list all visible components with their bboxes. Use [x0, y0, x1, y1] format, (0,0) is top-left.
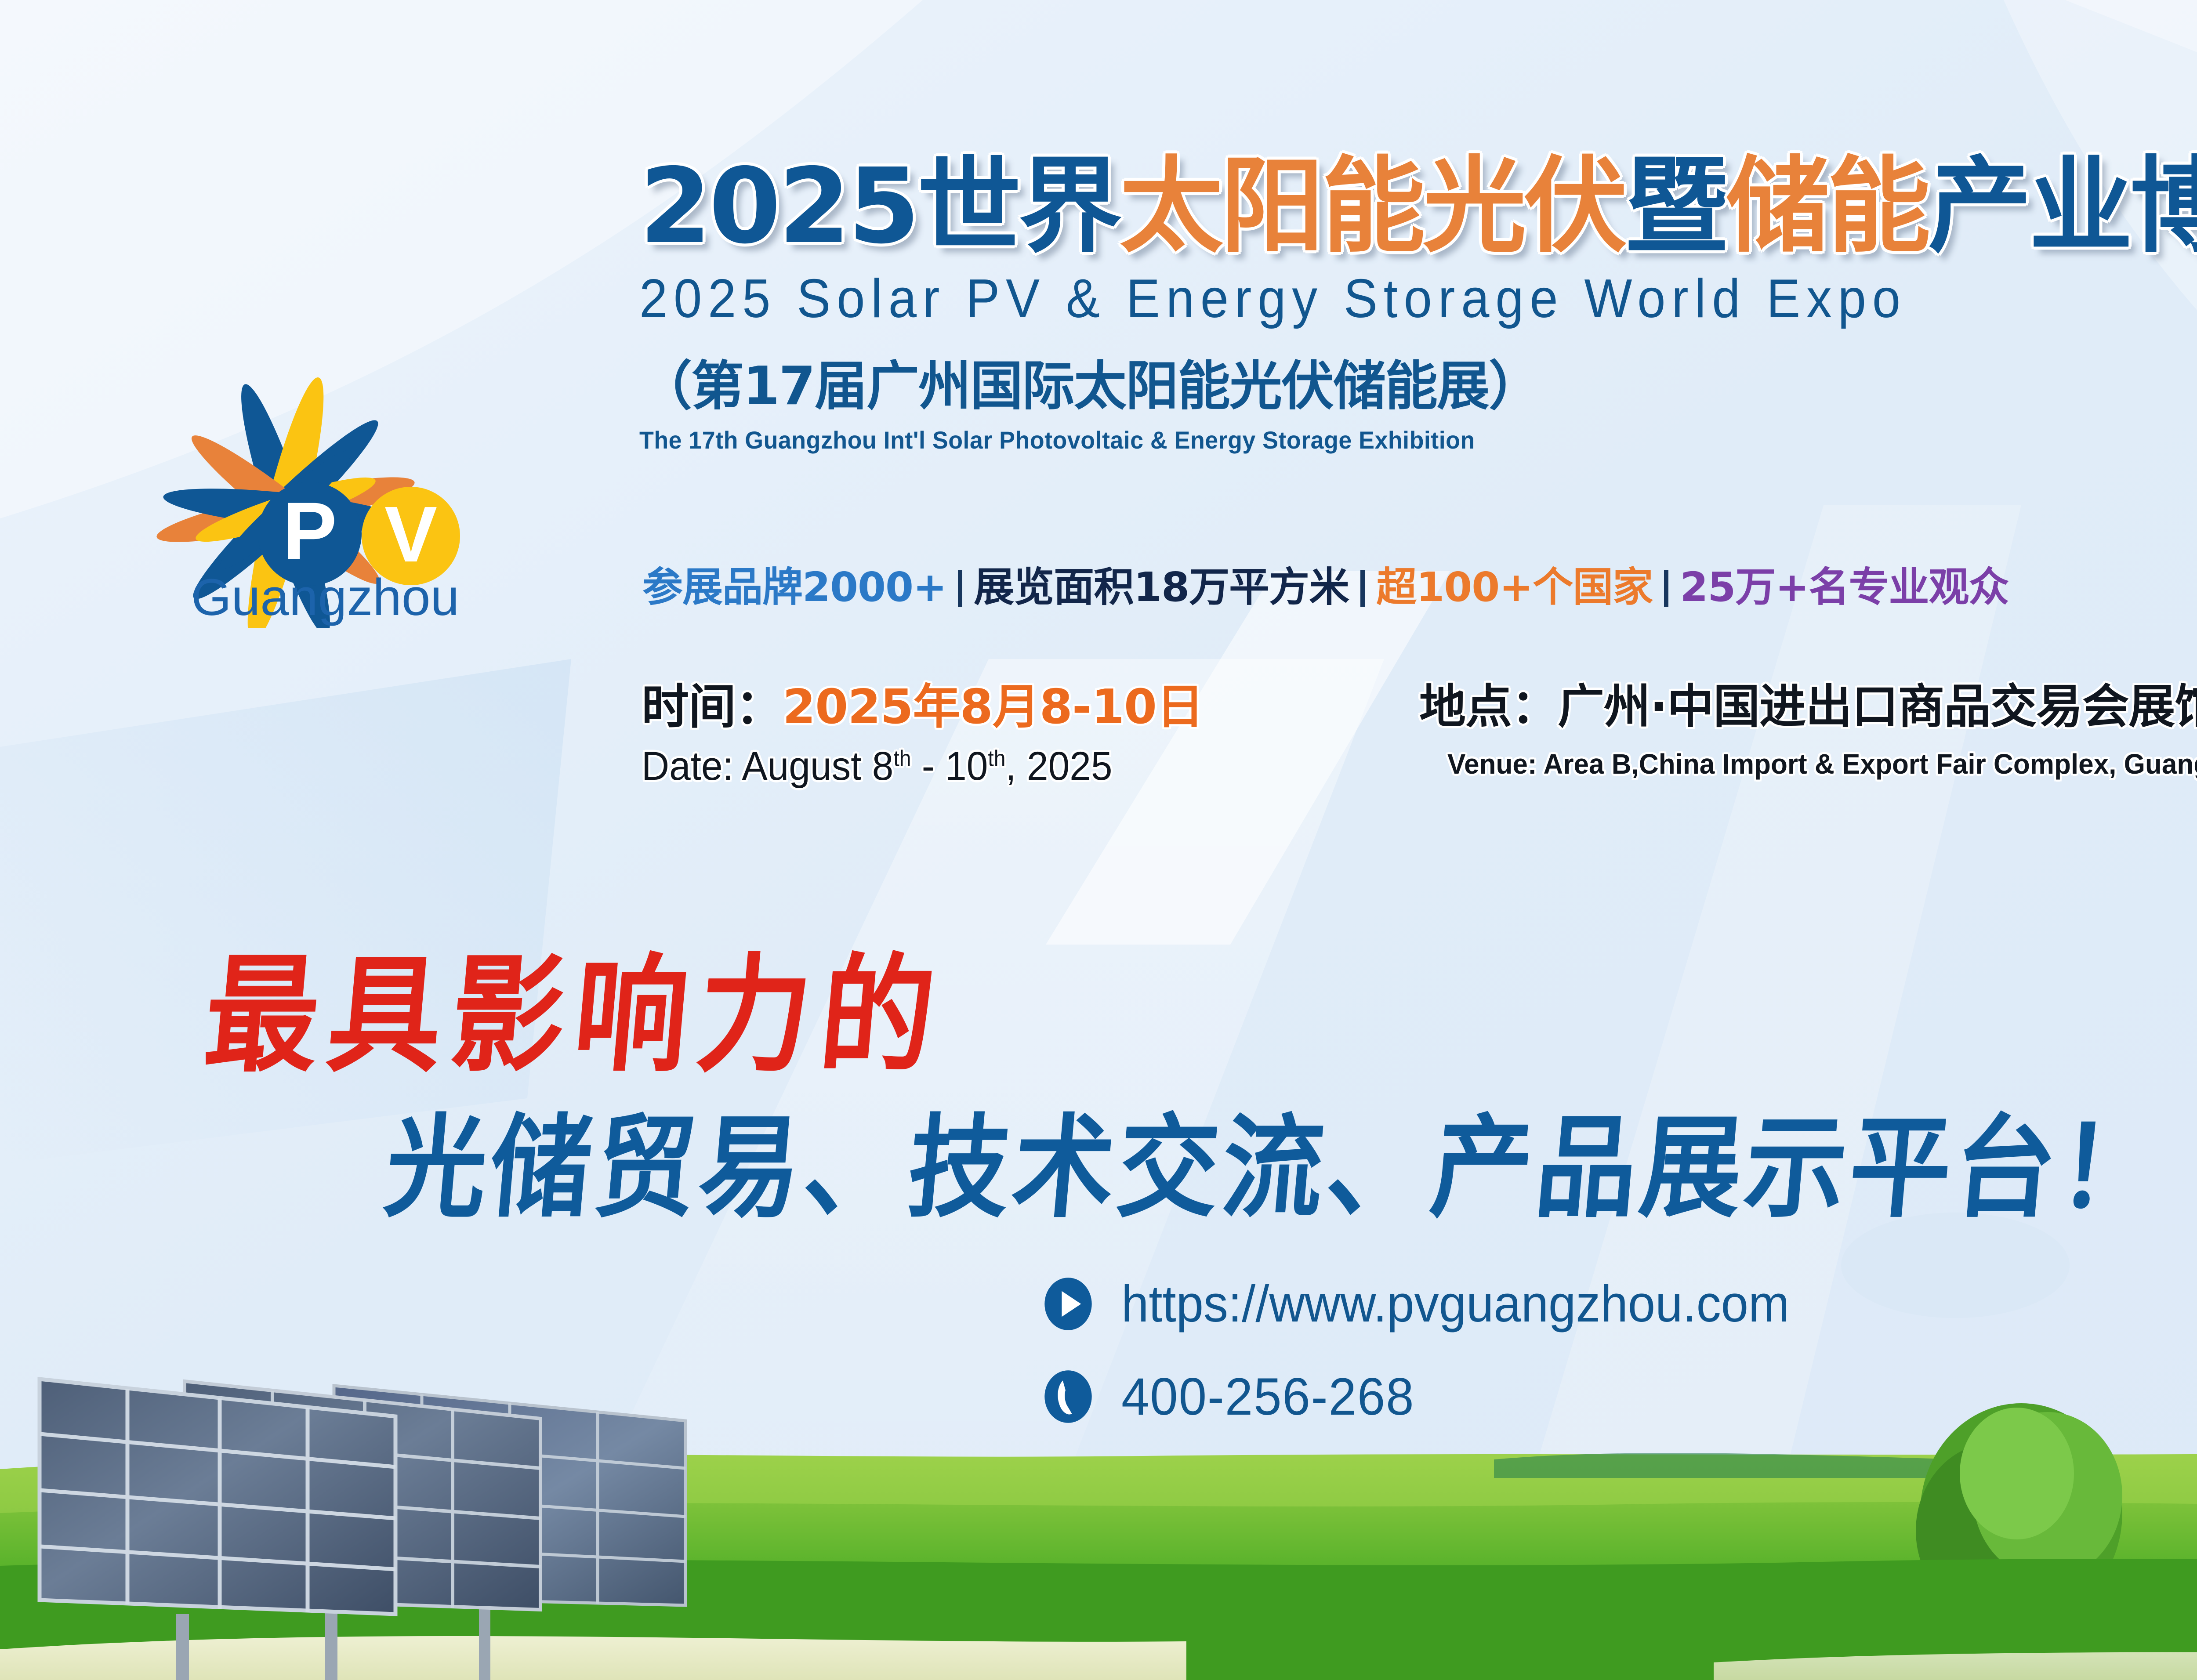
- title-part-2: 太阳能光伏: [1120, 146, 1625, 267]
- main-title-cn: 2025世界太阳能光伏暨储能产业博览会: [639, 154, 2197, 260]
- title-part-5: 产业博览会: [1928, 146, 2197, 267]
- title-part-3: 暨: [1625, 146, 1726, 267]
- title-block: 2025世界太阳能光伏暨储能产业博览会 2025 Solar PV & Ener…: [639, 154, 2197, 454]
- subtitle-cn: （第17届广州国际太阳能光伏储能展）: [639, 343, 2197, 420]
- main-title-en: 2025 Solar PV & Energy Storage World Exp…: [639, 268, 2197, 330]
- solar-panel-array: [0, 1329, 1019, 1680]
- logo-sunburst-icon: P V Guangzhou: [57, 176, 567, 628]
- promo-banner: P V Guangzhou 2025世界太阳能光伏暨储能产业博览会 2025 S…: [0, 0, 2197, 1680]
- slogan-line-2: 光储贸易、技术交流、产品展示平台！: [380, 1078, 2172, 1238]
- stat-countries: 超100+个国家: [1376, 554, 1653, 613]
- date-cn-label: 时间：: [642, 680, 783, 735]
- venue-en: Venue: Area B,China Import & Export Fair…: [1432, 748, 2197, 780]
- date-en-sup2: th: [988, 746, 1005, 771]
- date-en-mid: - 10: [911, 744, 988, 789]
- venue-cn-label: 地点：: [1419, 680, 1558, 734]
- date-venue-row: 时间：2025年8月8-10日 Date: August 8th - 10th,…: [642, 669, 2197, 789]
- logo-city-label: Guangzhou: [191, 568, 459, 626]
- stat-divider: [1360, 570, 1365, 607]
- date-column: 时间：2025年8月8-10日 Date: August 8th - 10th,…: [642, 669, 1419, 789]
- logo-letter-v: V: [384, 490, 437, 579]
- date-cn-value: 2025年8月8-10日: [783, 680, 1204, 735]
- stat-divider: [1664, 570, 1668, 607]
- venue-cn-value: 广州·中国进出口商品交易会展馆B区: [1558, 680, 2197, 734]
- date-en: Date: August 8th - 10th, 2025: [642, 743, 1381, 789]
- solar-panel-front: [40, 1379, 395, 1680]
- venue-cn: 地点：广州·中国进出口商品交易会展馆B区: [1419, 669, 2197, 736]
- venue-column: 地点：广州·中国进出口商品交易会展馆B区 Venue: Area B,China…: [1419, 669, 2197, 780]
- stat-visitors: 25万+名专业观众: [1680, 554, 2008, 613]
- date-en-prefix: Date: August 8: [642, 744, 893, 789]
- date-en-sup1: th: [893, 746, 911, 771]
- date-cn: 时间：2025年8月8-10日: [642, 669, 1419, 737]
- stat-area: 展览面积18万平方米: [974, 554, 1349, 613]
- logo-letter-p: P: [283, 486, 337, 576]
- slogan-line-1: 最具影响力的: [199, 913, 953, 1097]
- stats-row: 参展品牌2000+ 展览面积18万平方米 超100+个国家 25万+名专业观众: [642, 554, 2008, 613]
- date-en-suffix: , 2025: [1005, 744, 1112, 789]
- stat-divider: [958, 570, 962, 607]
- subtitle-en: The 17th Guangzhou Int'l Solar Photovolt…: [639, 426, 2197, 454]
- pv-guangzhou-logo: P V Guangzhou: [57, 176, 567, 628]
- title-part-4: 储能: [1726, 146, 1928, 267]
- title-part-1: 2025世界: [639, 146, 1120, 267]
- stat-brands: 参展品牌2000+: [642, 554, 946, 613]
